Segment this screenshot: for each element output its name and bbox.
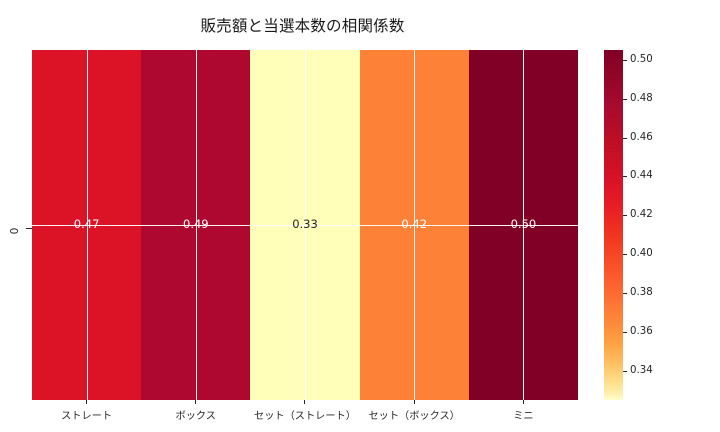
colorbar-tick-label: 0.46 xyxy=(630,132,653,144)
colorbar-tick-label: 0.36 xyxy=(630,326,653,338)
heatmap-cell-value: 0.47 xyxy=(74,219,100,231)
y-axis-tick-label-0: 0 xyxy=(9,224,21,238)
colorbar-tick-mark xyxy=(623,254,627,255)
colorbar-tick-mark xyxy=(623,99,627,100)
x-axis-tick-mark xyxy=(304,400,305,404)
colorbar-tick-label: 0.34 xyxy=(630,365,653,377)
x-axis-tick-label: セット（ボックス） xyxy=(360,407,469,422)
x-axis-tick-mark xyxy=(523,400,524,404)
x-axis-tick-label: セット（ストレート） xyxy=(250,407,359,422)
colorbar-tick-mark xyxy=(623,293,627,294)
x-axis-tick: セット（ボックス） xyxy=(360,400,469,422)
x-axis-tick-label: ミニ xyxy=(469,407,578,422)
colorbar-tick-label: 0.42 xyxy=(630,209,653,221)
colorbar-tick-mark xyxy=(623,371,627,372)
x-axis-tick-label: ボックス xyxy=(141,407,250,422)
x-axis-tick: ストレート xyxy=(32,400,141,422)
heatmap-plot-area: 0.470.490.330.420.50 xyxy=(32,50,578,400)
colorbar: 0.500.480.460.440.420.400.380.360.34 xyxy=(604,50,623,400)
x-axis-tick: ボックス xyxy=(141,400,250,422)
heatmap-cell-value: 0.33 xyxy=(292,219,318,231)
colorbar-gradient xyxy=(604,50,623,400)
colorbar-tick-label: 0.50 xyxy=(630,54,653,66)
colorbar-tick-mark xyxy=(623,176,627,177)
figure-canvas: 販売額と当選本数の相関係数 0 0.470.490.330.420.50 ストレ… xyxy=(0,0,720,432)
colorbar-tick-mark xyxy=(623,138,627,139)
colorbar-tick-mark xyxy=(623,215,627,216)
x-axis-tick: セット（ストレート） xyxy=(250,400,359,422)
colorbar-tick-label: 0.48 xyxy=(630,93,653,105)
x-axis-tick-label: ストレート xyxy=(32,407,141,422)
colorbar-tick-mark xyxy=(623,332,627,333)
colorbar-tick-label: 0.44 xyxy=(630,170,653,182)
x-axis-tick-mark xyxy=(195,400,196,404)
colorbar-tick-label: 0.38 xyxy=(630,287,653,299)
x-axis-tick-mark xyxy=(414,400,415,404)
x-axis-tick: ミニ xyxy=(469,400,578,422)
page-title: 販売額と当選本数の相関係数 xyxy=(0,14,605,36)
colorbar-tick-label: 0.40 xyxy=(630,248,653,260)
colorbar-tick-mark xyxy=(623,60,627,61)
x-axis-tick-mark xyxy=(86,400,87,404)
heatmap-cell-value: 0.42 xyxy=(401,219,427,231)
heatmap-cell-value: 0.49 xyxy=(183,219,209,231)
x-axis: ストレートボックスセット（ストレート）セット（ボックス）ミニ xyxy=(32,400,578,430)
heatmap-cell-value: 0.50 xyxy=(511,219,537,231)
